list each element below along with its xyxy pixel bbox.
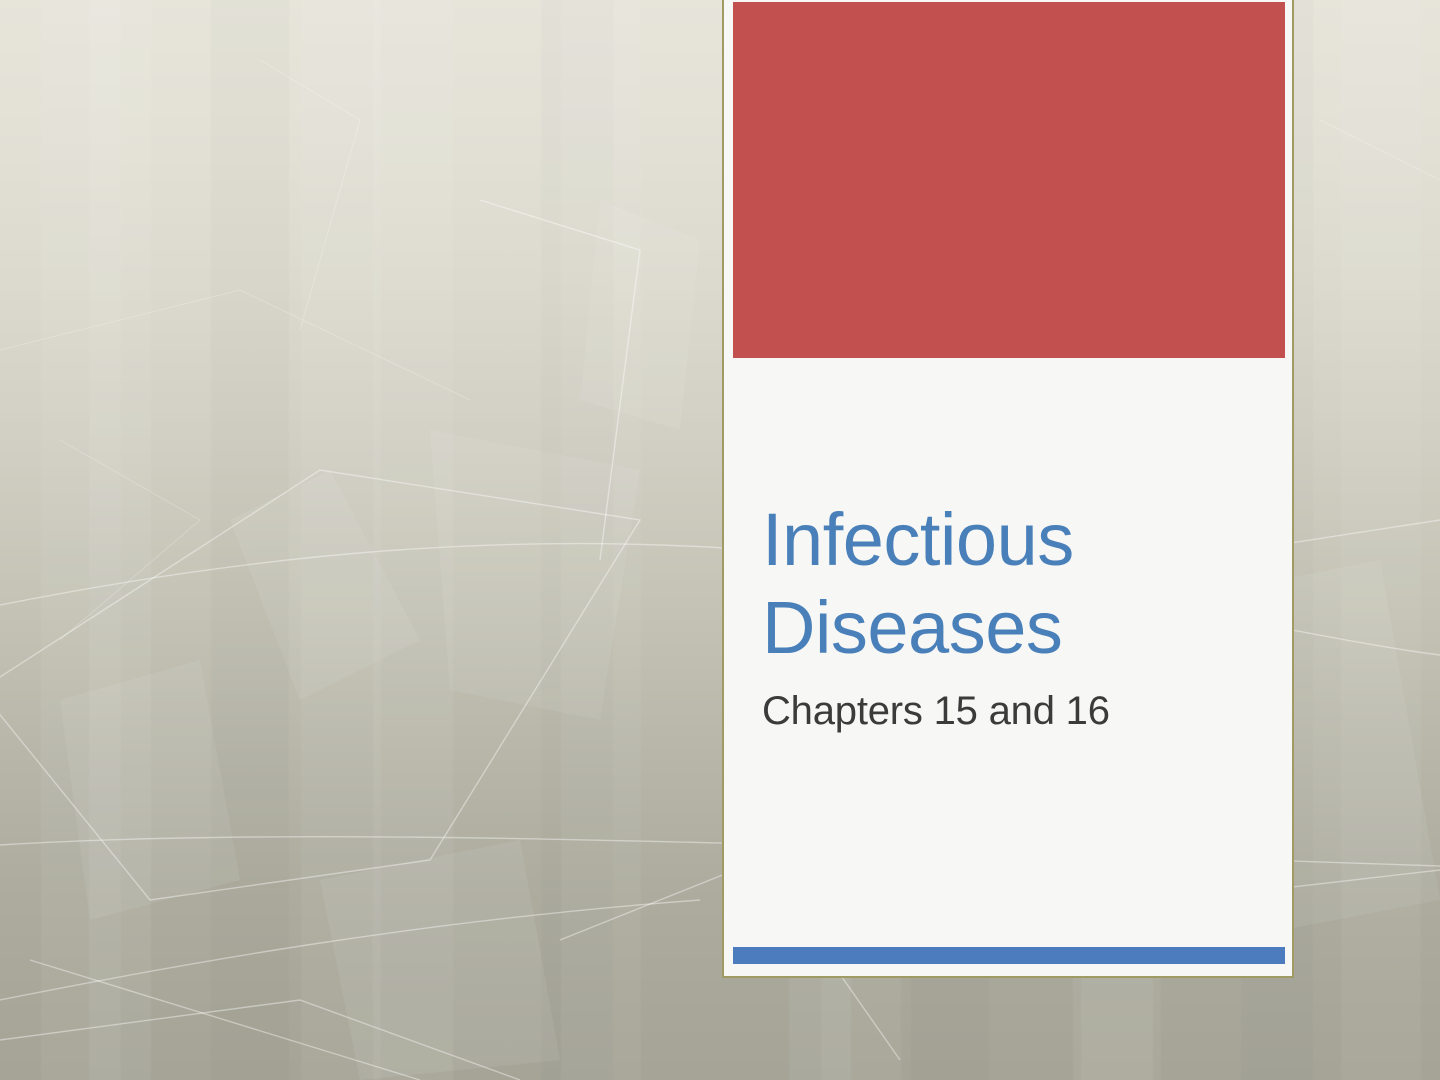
slide-subtitle: Chapters 15 and 16 bbox=[762, 686, 1272, 736]
accent-bar bbox=[733, 947, 1285, 964]
title-card-inner: Infectious Diseases Chapters 15 and 16 bbox=[724, 0, 1292, 976]
presentation-slide: Infectious Diseases Chapters 15 and 16 bbox=[0, 0, 1440, 1080]
title-card: Infectious Diseases Chapters 15 and 16 bbox=[722, 0, 1294, 978]
title-text-area: Infectious Diseases Chapters 15 and 16 bbox=[762, 496, 1272, 736]
slide-title: Infectious Diseases bbox=[762, 496, 1272, 672]
image-placeholder-block bbox=[733, 2, 1285, 358]
